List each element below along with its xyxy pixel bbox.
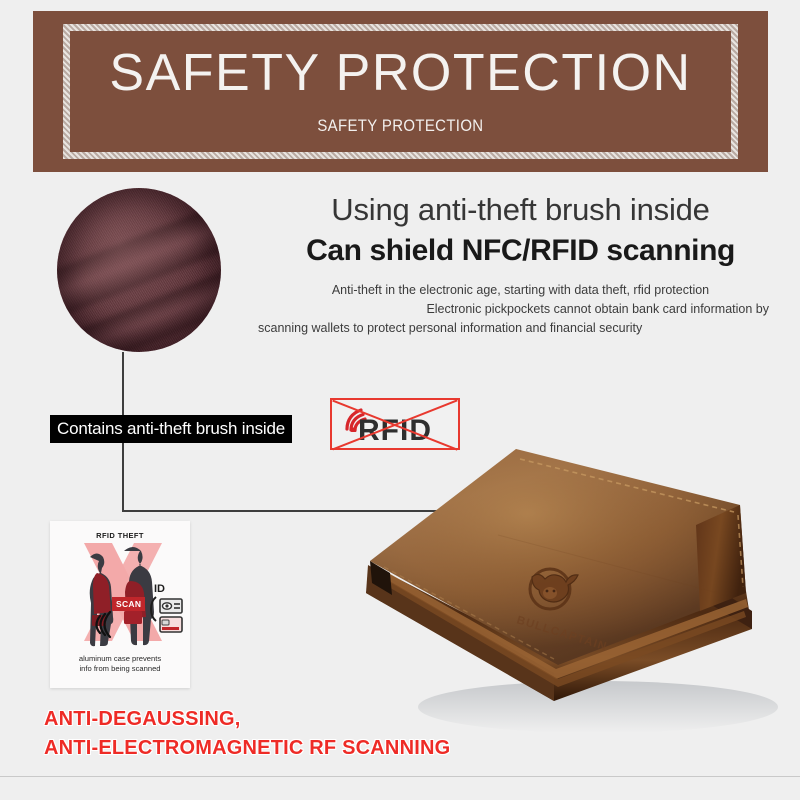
wallet-product-image: BULLCAPTAIN (348, 415, 800, 755)
body-line-1: Anti-theft in the electronic age, starti… (258, 281, 783, 300)
body-copy: Anti-theft in the electronic age, starti… (258, 281, 783, 338)
headline-line-2: Can shield NFC/RFID scanning (258, 233, 783, 269)
body-line-3: scanning wallets to protect personal inf… (258, 319, 783, 338)
footer-claim: ANTI-DEGAUSSING, ANTI-ELECTROMAGNETIC RF… (44, 705, 450, 763)
theft-card-illustration (50, 537, 190, 649)
headline-line-1: Using anti-theft brush inside (258, 192, 783, 229)
headline-block: Using anti-theft brush inside Can shield… (258, 192, 783, 338)
banner-text-group: SAFETY PROTECTION SAFETY PROTECTION (33, 11, 768, 172)
page-title: SAFETY PROTECTION (109, 47, 691, 99)
scan-badge: SCAN (112, 597, 145, 611)
callout-label: Contains anti-theft brush inside (50, 415, 292, 443)
page-subtitle: SAFETY PROTECTION (317, 116, 483, 136)
bottom-divider (0, 776, 800, 777)
id-cards-group (151, 597, 182, 632)
footer-claim-line-1: ANTI-DEGAUSSING, (44, 705, 450, 734)
product-feature-page: SAFETY PROTECTION SAFETY PROTECTION Usin… (0, 0, 800, 800)
fabric-closeup-circle (57, 188, 221, 352)
footer-claim-line-2: ANTI-ELECTROMAGNETIC RF SCANNING (44, 734, 450, 763)
rfid-theft-info-card: RFID THEFT (50, 521, 190, 688)
credit-card-icon (160, 617, 182, 632)
theft-card-caption-line-2: info from being scanned (79, 664, 160, 673)
theft-card-caption-line-1: aluminum case prevents (79, 654, 161, 663)
id-label: ID (154, 583, 165, 595)
theft-card-caption: aluminum case prevents info from being s… (50, 654, 190, 675)
header-banner: SAFETY PROTECTION SAFETY PROTECTION (33, 11, 768, 172)
fabric-vignette (57, 188, 221, 352)
id-card-icon (160, 599, 182, 613)
body-line-2: Electronic pickpockets cannot obtain ban… (258, 300, 783, 319)
wallet-shadow (418, 681, 778, 733)
wallet-illustration: BULLCAPTAIN (348, 415, 800, 755)
